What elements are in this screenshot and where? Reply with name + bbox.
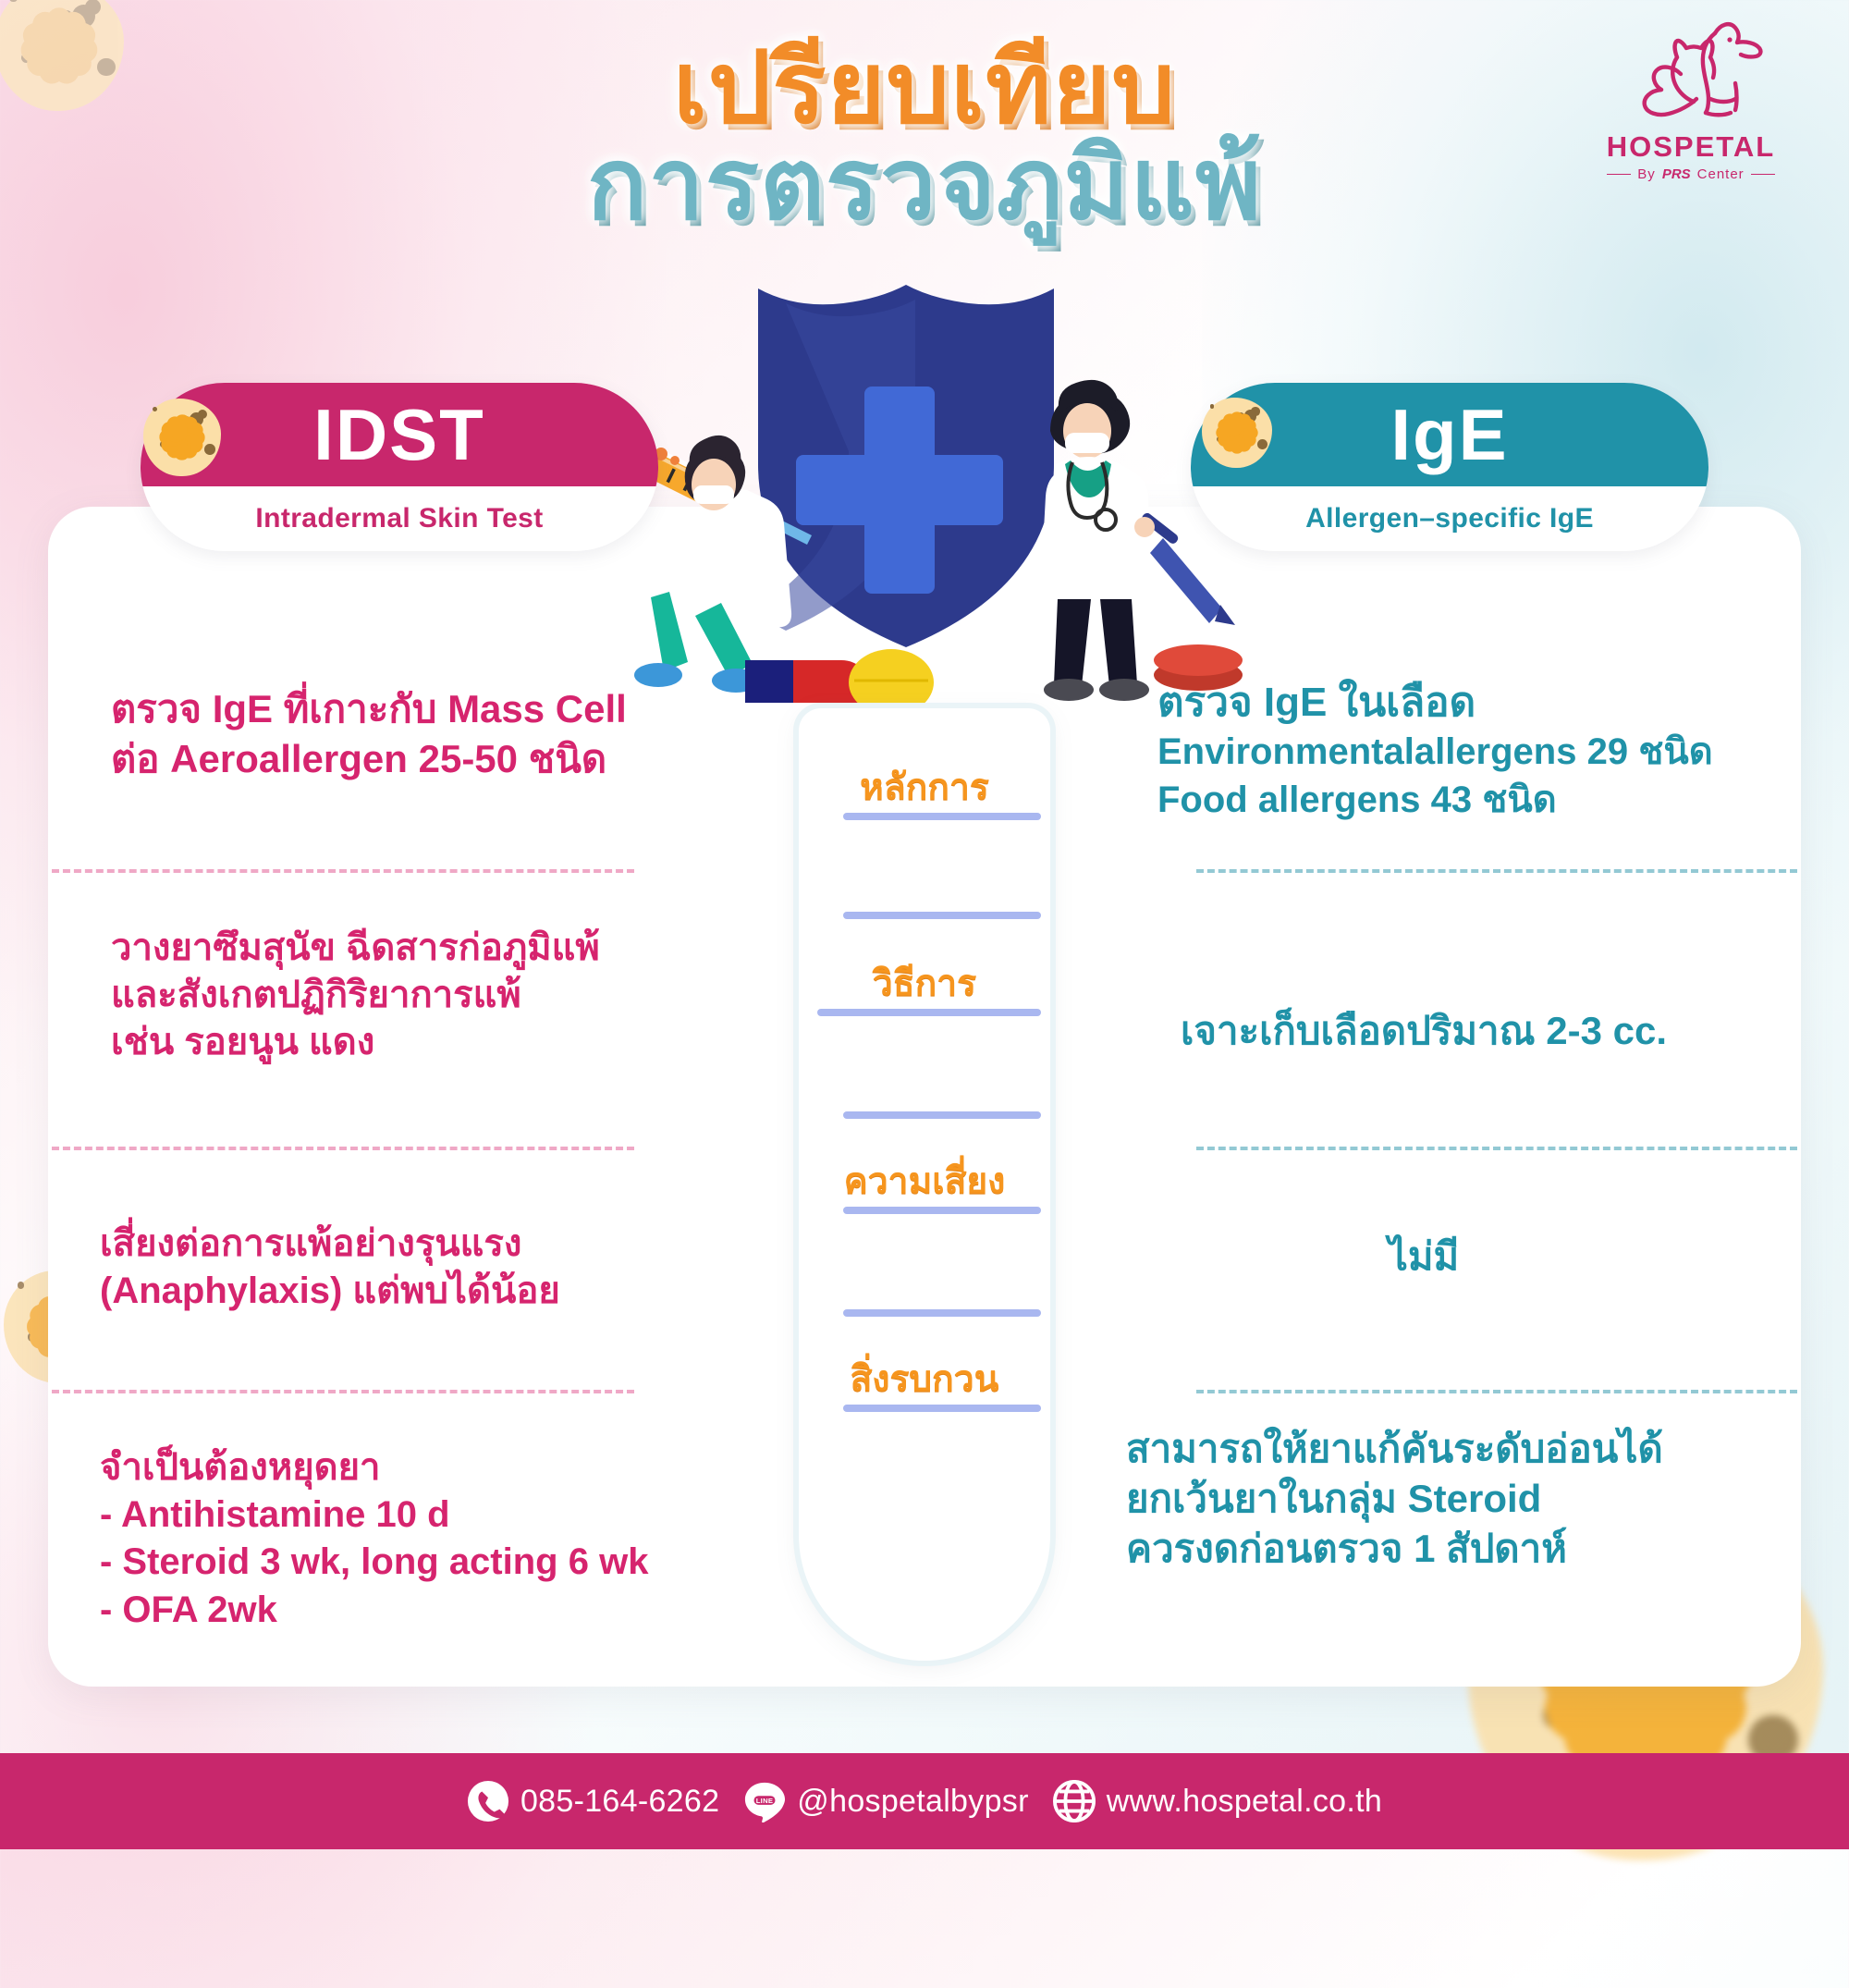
tube-tick [843, 912, 1041, 919]
row-label-1: หลักการ [799, 769, 1050, 820]
ige-abbr: IgE [1390, 399, 1508, 471]
divider-right-1 [1196, 869, 1797, 873]
column-header-idst: IDST Intradermal Skin Test [141, 383, 658, 551]
row-label-4: สิ่งรบกวน [799, 1361, 1050, 1412]
divider-right-3 [1196, 1390, 1797, 1393]
page-title: เปรียบเทียบ การตรวจภูมิแพ้ [0, 37, 1849, 235]
row-label-1-text: หลักการ [799, 769, 1050, 805]
virus-dot [9, 0, 17, 2]
brand-logo: HOSPETAL By PRS Center [1575, 15, 1806, 182]
virus-dot [1543, 1700, 1572, 1729]
logo-brand-prs: PRS [1662, 166, 1691, 182]
footer-website-text: www.hospetal.co.th [1107, 1784, 1382, 1820]
virus-dot [85, 0, 101, 15]
virus-dot [28, 1332, 37, 1342]
ige-cell-row4: สามารถให้ยาแก้คันระดับอ่อนได้ ยกเว้นยาใน… [1126, 1424, 1663, 1573]
divider-left-3 [52, 1390, 634, 1393]
row-label-3: ความเสี่ยง [799, 1163, 1050, 1214]
virus-dot [1578, 1687, 1632, 1740]
tube-tick [843, 1405, 1041, 1412]
svg-text:LINE: LINE [756, 1797, 774, 1805]
row-label-3-text: ความเสี่ยง [799, 1163, 1050, 1199]
idst-abbr: IDST [313, 399, 485, 471]
footer-phone[interactable]: 085-164-6262 [467, 1780, 719, 1822]
globe-icon [1053, 1780, 1096, 1822]
footer-website[interactable]: www.hospetal.co.th [1053, 1780, 1382, 1822]
ige-full-name: Allergen–specific IgE [1305, 503, 1594, 534]
doctors-shield-illustration [573, 250, 1276, 703]
logo-tagline: By PRS Center [1575, 166, 1806, 182]
idst-cell-row2: วางยาซึมสุนัข ฉีดสารก่อภูมิแพ้ และสังเกต… [111, 925, 600, 1067]
ige-full-band: Allergen–specific IgE [1191, 486, 1708, 551]
dog-cat-logo-icon [1585, 15, 1797, 124]
tube-tick [843, 1207, 1041, 1214]
footer-phone-text: 085-164-6262 [520, 1784, 719, 1820]
virus-dot [59, 10, 73, 24]
divider-left-1 [52, 869, 634, 873]
logo-rule-left [1607, 174, 1631, 176]
title-line-1: เปรียบเทียบ [0, 37, 1849, 139]
idst-cell-row3: เสี่ยงต่อการแพ้อย่างรุนแรง (Anaphylaxis)… [100, 1221, 560, 1315]
tube-tick [817, 1009, 1041, 1016]
footer-line[interactable]: LINE @hospetalbypsr [743, 1780, 1028, 1822]
title-line-2: การตรวจภูมิแพ้ [0, 133, 1849, 235]
ige-cell-row2: เจาะเก็บเลือดปริมาณ 2-3 cc. [1072, 1006, 1775, 1056]
row-label-2: วิธีการ [799, 965, 1050, 1016]
idst-cell-row4: จำเป็นต้องหยุดยา - Antihistamine 10 d - … [100, 1444, 648, 1634]
logo-center: Center [1697, 166, 1745, 182]
footer-line-text: @hospetalbypsr [797, 1784, 1028, 1820]
divider-left-2 [52, 1147, 634, 1150]
idst-cell-row1: ตรวจ IgE ที่เกาะกับ Mass Cell ต่อ Aeroal… [111, 684, 627, 784]
divider-right-2 [1196, 1147, 1797, 1150]
virus-dot [72, 5, 95, 28]
ige-abbr-band: IgE [1191, 383, 1708, 486]
virus-dot [46, 15, 68, 37]
virus-dot [153, 407, 157, 411]
logo-rule-right [1751, 174, 1775, 176]
tube-tick [843, 1309, 1041, 1317]
row-label-2-text: วิธีการ [799, 965, 1050, 1001]
logo-by: By [1637, 166, 1656, 182]
ige-cell-row3: ไม่มี [1072, 1232, 1775, 1282]
idst-full-band: Intradermal Skin Test [141, 486, 658, 551]
idst-abbr-band: IDST [141, 383, 658, 486]
pills-illustration [745, 644, 1243, 703]
logo-wordmark: HOSPETAL [1575, 130, 1806, 164]
idst-full-name: Intradermal Skin Test [255, 503, 543, 534]
tube-tick [843, 1111, 1041, 1119]
line-app-icon: LINE [743, 1780, 786, 1822]
phone-icon [467, 1780, 509, 1822]
center-label-tube: หลักการ วิธีการ ความเสี่ยง สิ่งรบกวน [799, 708, 1050, 1661]
tube-tick [843, 813, 1041, 820]
virus-dot [18, 1282, 24, 1288]
row-label-4-text: สิ่งรบกวน [799, 1361, 1050, 1397]
contact-footer: 085-164-6262 LINE @hospetalbypsr www.hos… [0, 1753, 1849, 1849]
column-header-ige: IgE Allergen–specific IgE [1191, 383, 1708, 551]
